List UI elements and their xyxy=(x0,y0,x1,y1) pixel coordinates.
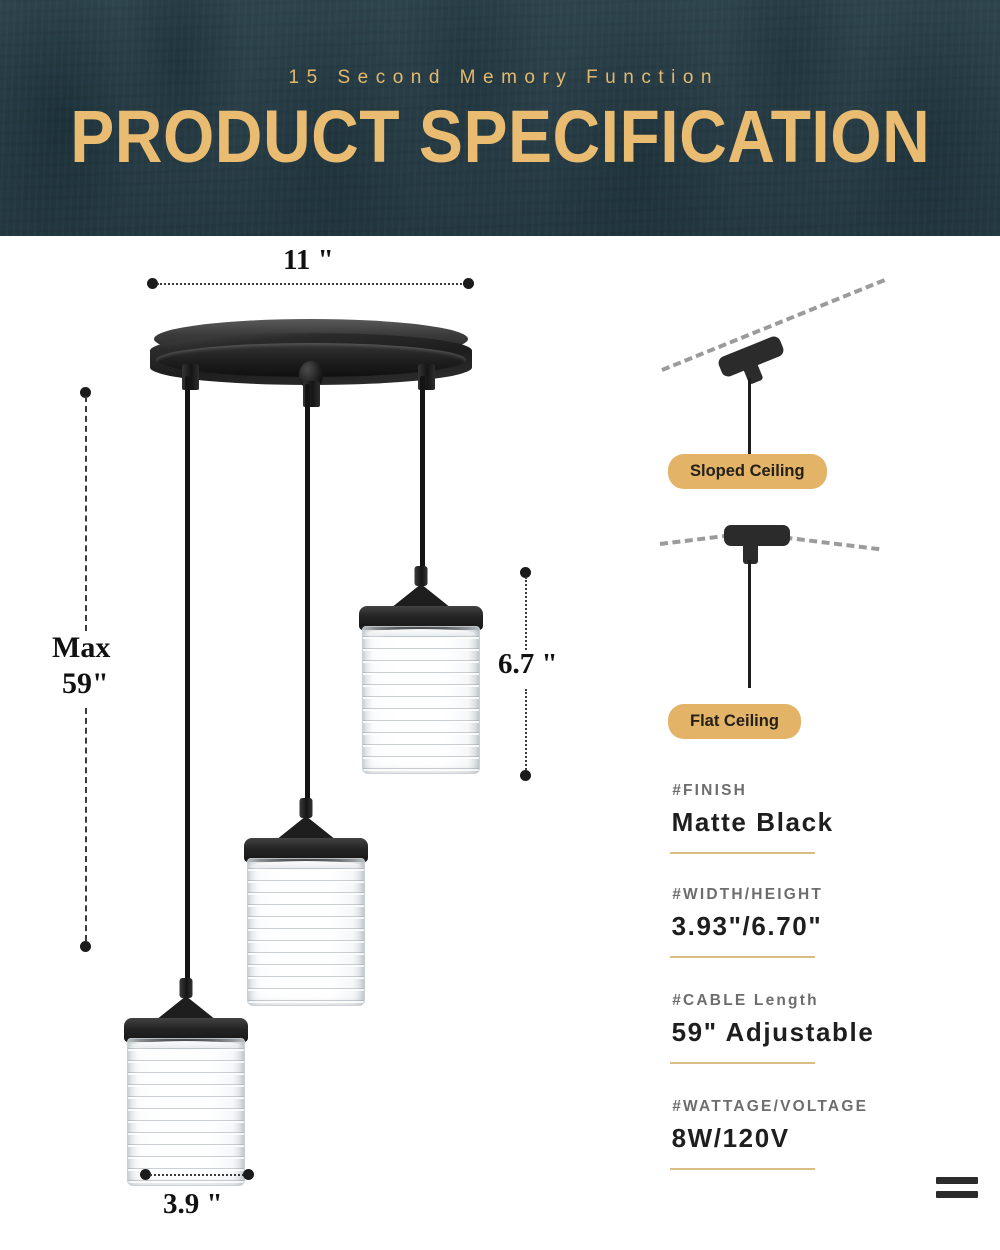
header-banner: 15 Second Memory Function PRODUCT SPECIF… xyxy=(0,0,1000,236)
dimension-label-shade-height: 6.7 " xyxy=(498,648,558,681)
equals-logo-mark xyxy=(936,1177,978,1198)
lamp-glass-ribs xyxy=(128,1039,244,1185)
lamp-neck xyxy=(300,798,313,818)
dimension-label-drop-value: 59" xyxy=(62,667,109,701)
lamp-glass-ribs xyxy=(248,859,364,1005)
dimension-endpoint-dot xyxy=(243,1169,254,1180)
spec-value: Matte Black xyxy=(670,807,970,838)
pendant-cord-center xyxy=(305,384,310,808)
lamp-cone xyxy=(391,584,451,608)
dimension-label-canopy-width: 11 " xyxy=(283,244,334,277)
lamp-neck xyxy=(180,978,193,998)
spec-label: #FINISH xyxy=(670,782,970,800)
dimension-label-max: Max xyxy=(52,631,110,665)
spec-row-cable-length: #CABLE Length 59" Adjustable xyxy=(670,992,970,1064)
specification-panel: Sloped Ceiling Flat Ceiling #FINISH Matt… xyxy=(640,236,1000,1250)
spec-divider xyxy=(670,956,815,958)
lamp-neck xyxy=(415,566,428,586)
page-title: PRODUCT SPECIFICATION xyxy=(70,99,930,173)
spec-value: 3.93"/6.70" xyxy=(670,911,970,942)
dimension-endpoint-dot xyxy=(463,278,474,289)
dimension-endpoint-dot xyxy=(80,941,91,952)
badge-flat-ceiling: Flat Ceiling xyxy=(668,704,801,739)
pendant-lamp-center xyxy=(244,798,368,1006)
lamp-glass-ribs xyxy=(363,627,479,773)
equals-bar-bottom xyxy=(936,1191,978,1198)
product-diagram: 11 " xyxy=(0,236,640,1250)
dimension-line-vertical xyxy=(85,708,87,941)
dimension-endpoint-dot xyxy=(520,770,531,781)
spec-label: #WATTAGE/VOLTAGE xyxy=(670,1098,970,1116)
flat-mount-cord xyxy=(748,560,751,688)
lamp-cone xyxy=(156,996,216,1020)
lamp-glass-shade xyxy=(127,1038,245,1186)
pendant-lamp-left xyxy=(124,978,248,1186)
equals-bar-top xyxy=(936,1177,978,1184)
lamp-glass-shade xyxy=(362,626,480,774)
spec-divider xyxy=(670,852,815,854)
badge-sloped-ceiling: Sloped Ceiling xyxy=(668,454,827,489)
lamp-cone xyxy=(276,816,336,840)
dimension-label-shade-width: 3.9 " xyxy=(163,1188,223,1221)
pendant-cord-left xyxy=(185,376,190,988)
dimension-line-horizontal xyxy=(157,283,465,285)
spec-divider xyxy=(670,1168,815,1170)
sloped-ceiling-figure xyxy=(640,256,1000,456)
dimension-line-vertical xyxy=(525,577,527,650)
spec-label: #WIDTH/HEIGHT xyxy=(670,886,970,904)
pendant-lamp-right xyxy=(359,566,483,774)
spec-row-finish: #FINISH Matte Black xyxy=(670,782,970,854)
spec-row-width-height: #WIDTH/HEIGHT 3.93"/6.70" xyxy=(670,886,970,958)
spec-row-wattage-voltage: #WATTAGE/VOLTAGE 8W/120V xyxy=(670,1098,970,1170)
spec-label: #CABLE Length xyxy=(670,992,970,1010)
flat-ceiling-figure xyxy=(640,518,1000,728)
spec-value: 59" Adjustable xyxy=(670,1017,970,1048)
pendant-cord-right xyxy=(420,376,425,576)
banner-subtitle: 15 Second Memory Function xyxy=(281,67,719,89)
spec-value: 8W/120V xyxy=(670,1123,970,1154)
dimension-line-horizontal xyxy=(150,1174,248,1176)
dimension-line-vertical xyxy=(525,689,527,770)
dimension-line-vertical xyxy=(85,396,87,631)
spec-divider xyxy=(670,1062,815,1064)
lamp-glass-shade xyxy=(247,858,365,1006)
